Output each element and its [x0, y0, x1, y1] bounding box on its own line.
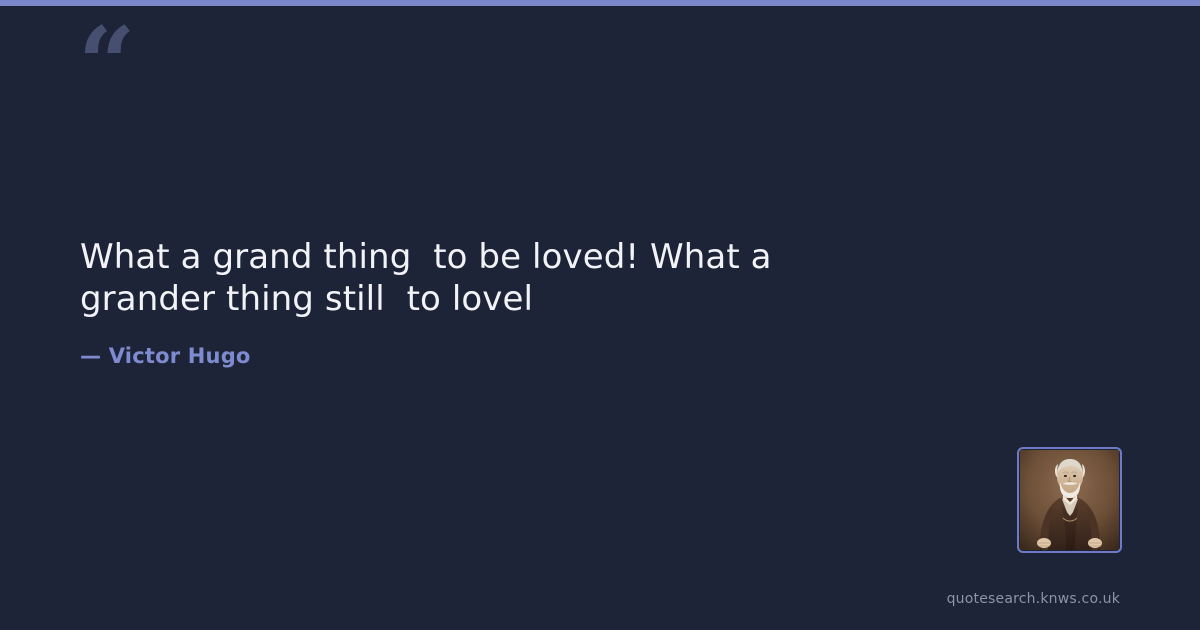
quote-text: What a grand thing to be loved! What a g…	[80, 236, 880, 320]
quote-block: What a grand thing to be loved! What a g…	[80, 236, 880, 320]
quote-attribution: — Victor Hugo	[80, 344, 251, 368]
author-portrait	[1017, 447, 1122, 553]
top-accent-bar	[0, 0, 1200, 6]
quote-card: “ What a grand thing to be loved! What a…	[0, 0, 1200, 630]
open-quote-icon: “	[78, 14, 134, 114]
site-watermark: quotesearch.knws.co.uk	[947, 591, 1120, 607]
portrait-frame	[1017, 447, 1122, 553]
